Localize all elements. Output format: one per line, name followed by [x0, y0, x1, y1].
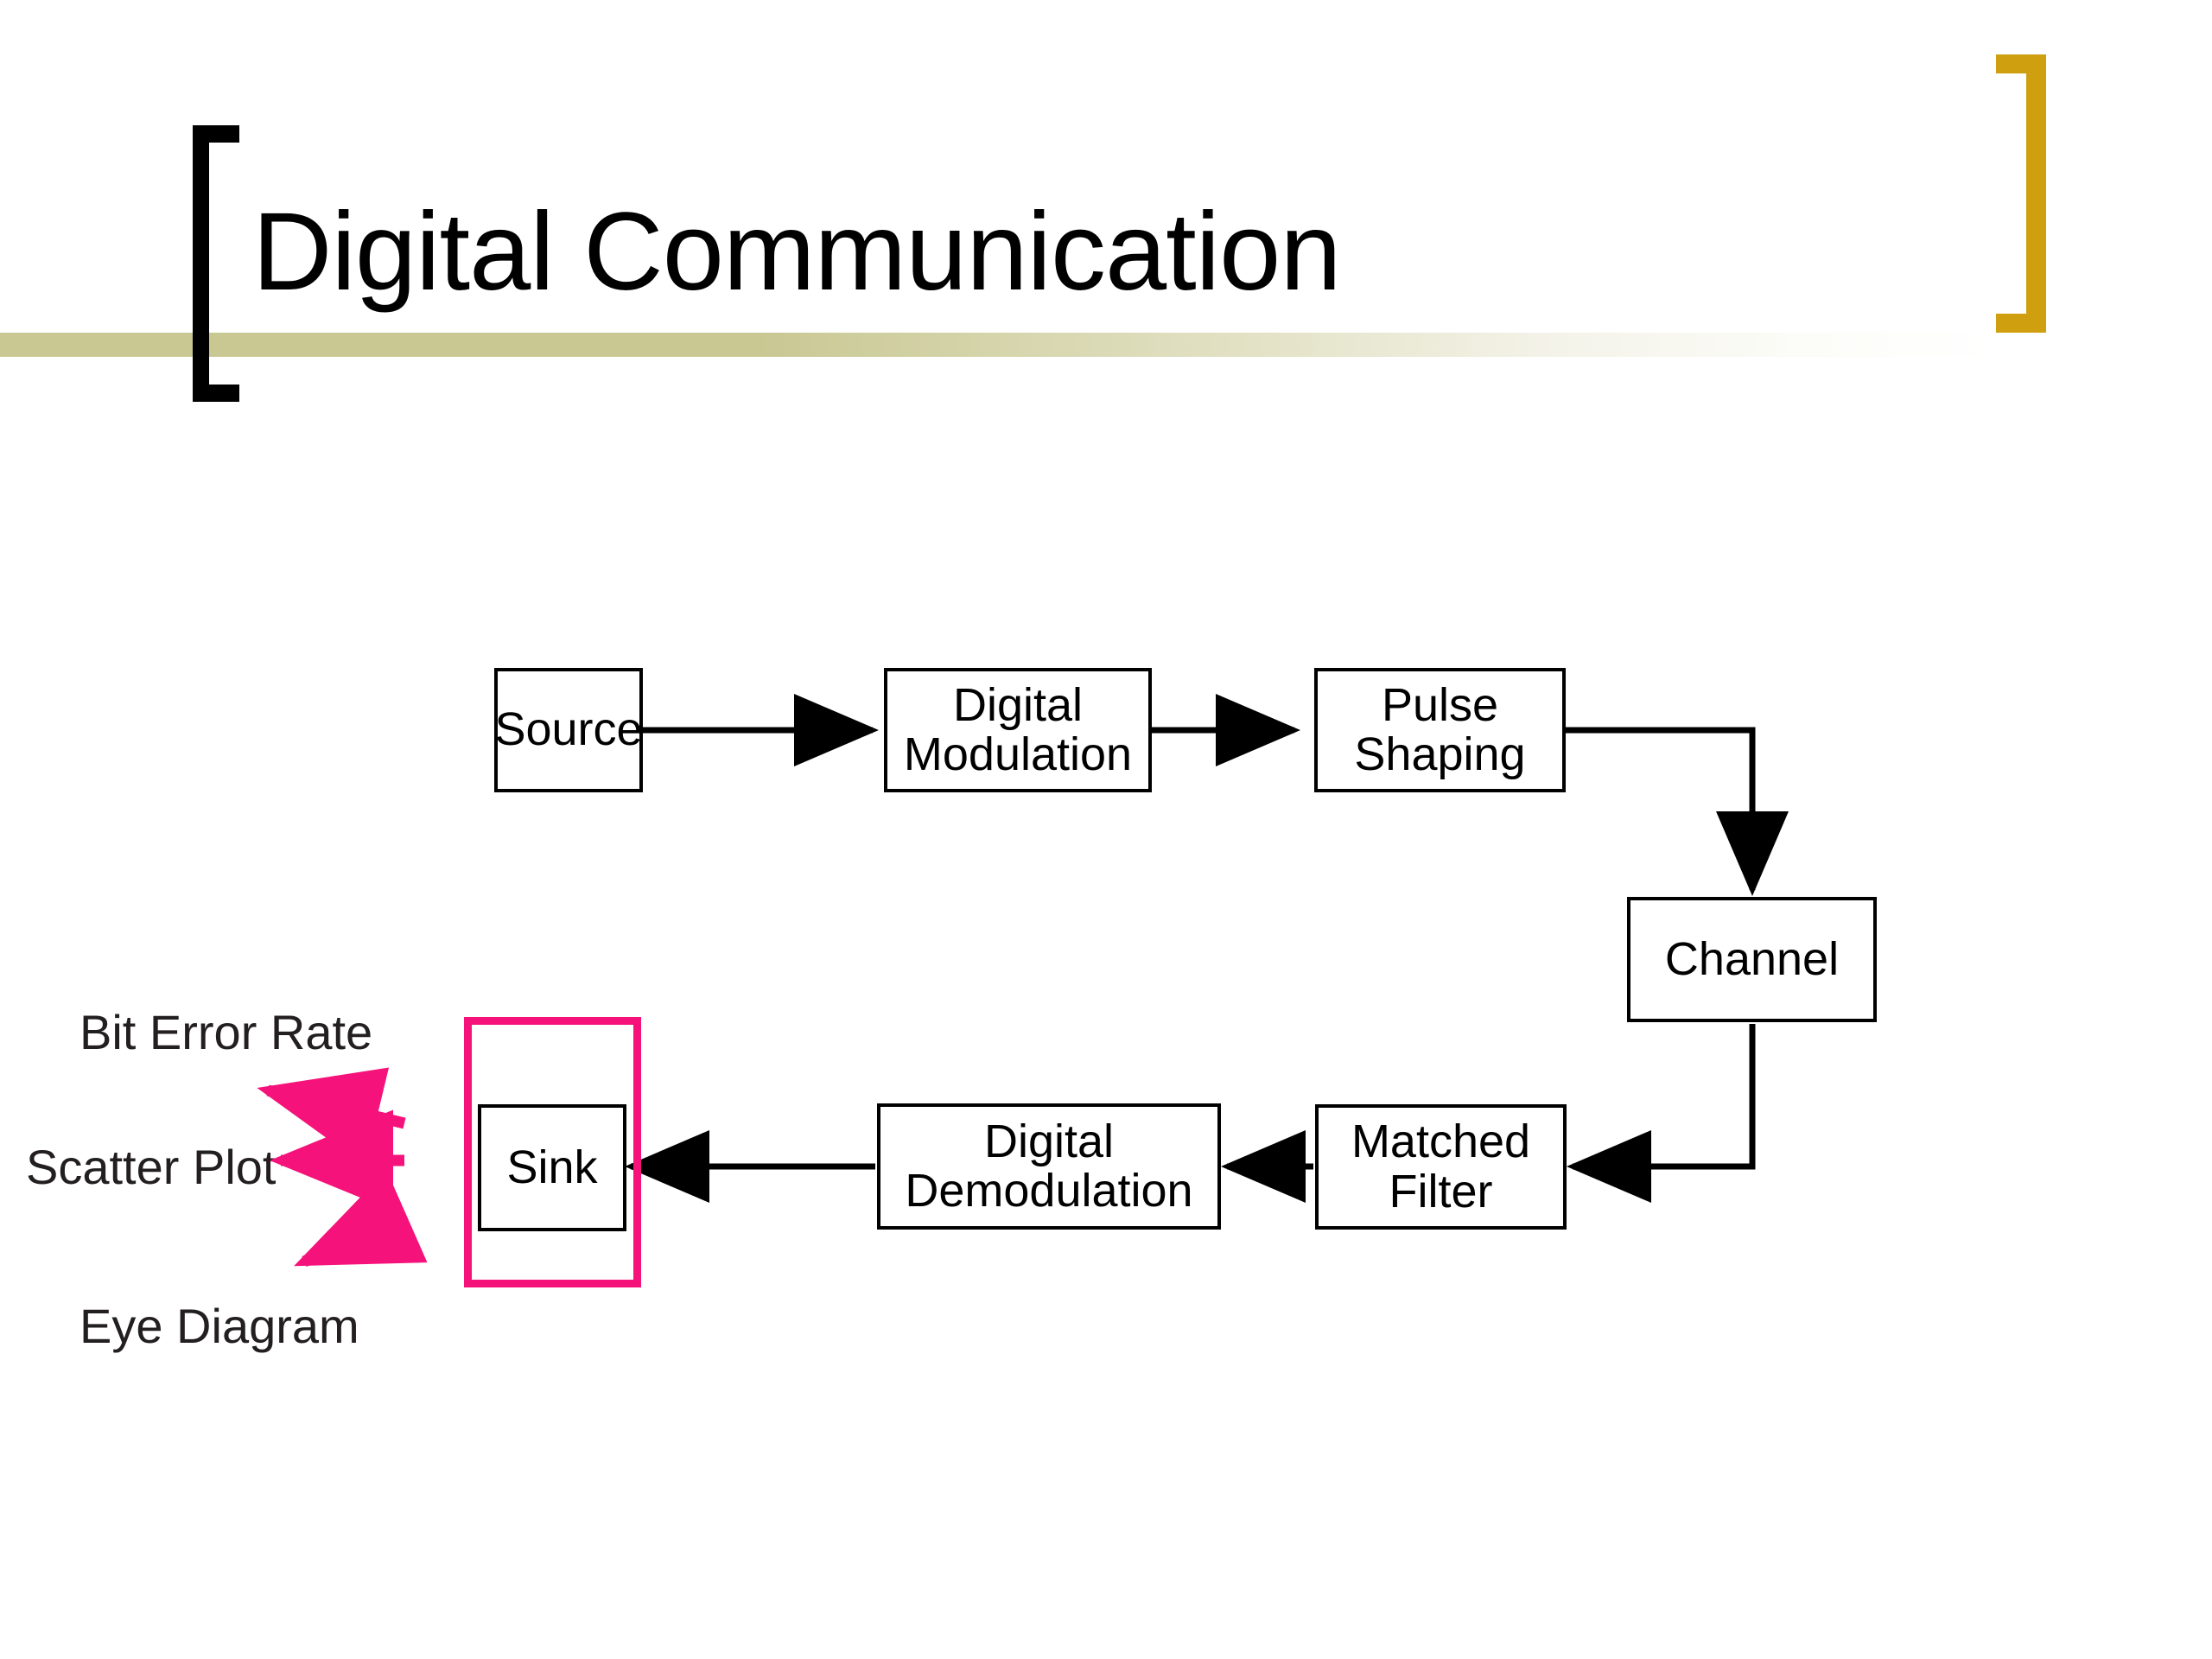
diagram-connectors: [0, 0, 2212, 1659]
block-digital-modulation-label: Digital Modulation: [904, 681, 1132, 779]
block-pulse-shaping[interactable]: Pulse Shaping: [1314, 668, 1566, 792]
block-source[interactable]: Source: [494, 668, 643, 792]
wire-channel-to-matched-filter: [1573, 1024, 1752, 1166]
slide-canvas: Digital Communication: [0, 0, 2212, 1659]
annotation-bit-error-rate: Bit Error Rate: [79, 1008, 372, 1057]
arrow-to-bit-error-rate: [268, 1090, 404, 1123]
block-sink[interactable]: Sink: [478, 1104, 626, 1231]
arrow-to-eye-diagram: [304, 1217, 406, 1262]
digital-communication-block-diagram: Source Digital Modulation Pulse Shaping …: [0, 0, 2212, 1659]
block-sink-label: Sink: [506, 1143, 597, 1192]
sink-output-callout-arrows: [0, 0, 2212, 1659]
block-channel-label: Channel: [1665, 935, 1839, 984]
block-digital-modulation[interactable]: Digital Modulation: [884, 668, 1152, 792]
annotation-eye-diagram: Eye Diagram: [79, 1302, 359, 1351]
block-digital-demodulation[interactable]: Digital Demodulation: [877, 1103, 1221, 1230]
block-matched-filter[interactable]: Matched Filter: [1315, 1104, 1567, 1230]
block-source-label: Source: [494, 705, 642, 754]
block-pulse-shaping-label: Pulse Shaping: [1354, 681, 1525, 779]
block-channel[interactable]: Channel: [1627, 897, 1877, 1022]
wire-pulse-shaping-to-channel: [1566, 730, 1752, 890]
block-matched-filter-label: Matched Filter: [1351, 1117, 1530, 1216]
block-digital-demodulation-label: Digital Demodulation: [905, 1117, 1192, 1216]
annotation-scatter-plot: Scatter Plot: [26, 1143, 276, 1192]
